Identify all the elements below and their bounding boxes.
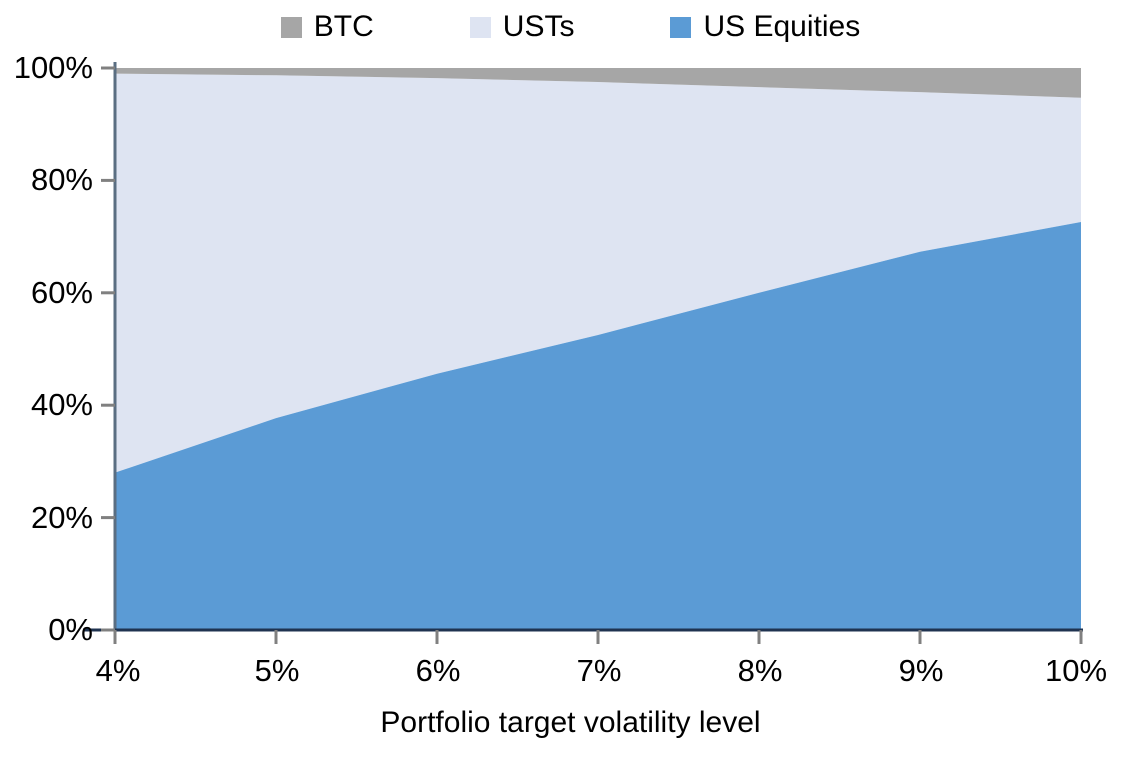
x-tick-label-9: 9% — [899, 655, 944, 686]
x-axis-title: Portfolio target volatility level — [0, 706, 1141, 740]
x-tick-label-5: 5% — [255, 655, 300, 686]
x-axis-labels: 4% 5% 6% 7% 8% 9% 10% — [0, 0, 1141, 763]
stacked-area-chart: BTC USTs US Equities 100 — [0, 0, 1141, 763]
x-tick-label-8: 8% — [738, 655, 783, 686]
x-tick-label-4: 4% — [96, 655, 141, 686]
x-tick-label-7: 7% — [577, 655, 622, 686]
x-tick-label-10: 10% — [1045, 655, 1107, 686]
x-tick-label-6: 6% — [416, 655, 461, 686]
